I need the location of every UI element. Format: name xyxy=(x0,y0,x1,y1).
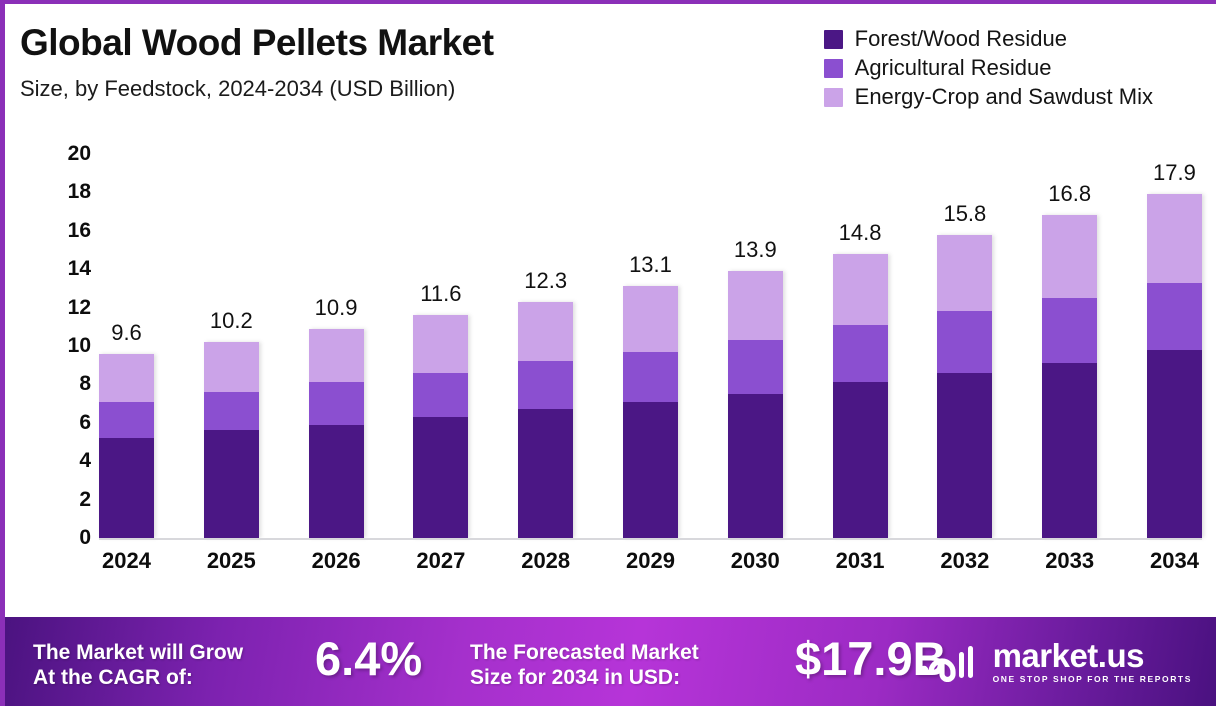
legend-label: Forest/Wood Residue xyxy=(855,28,1067,50)
stacked-bar[interactable] xyxy=(99,354,154,538)
bar-segment[interactable] xyxy=(518,361,573,409)
stacked-bar[interactable] xyxy=(1147,194,1202,538)
forecast-caption-line2: Size for 2034 in USD: xyxy=(470,666,699,691)
x-axis-tick-label: 2031 xyxy=(833,548,888,588)
legend-swatch-icon xyxy=(824,88,843,107)
y-axis-tick-label: 4 xyxy=(79,449,91,473)
bar-segment[interactable] xyxy=(1042,298,1097,363)
page-title: Global Wood Pellets Market xyxy=(20,22,494,64)
bar-column[interactable]: 14.8 xyxy=(833,154,888,538)
stacked-bar[interactable] xyxy=(833,254,888,538)
bar-segment[interactable] xyxy=(937,235,992,312)
logo-name: market.us xyxy=(993,639,1192,672)
bar-column[interactable]: 11.6 xyxy=(413,154,468,538)
header: Global Wood Pellets Market Size, by Feed… xyxy=(5,4,1216,154)
y-axis-tick-label: 20 xyxy=(68,142,91,166)
forecast-caption: The Forecasted Market Size for 2034 in U… xyxy=(470,641,699,691)
legend-item: Energy-Crop and Sawdust Mix xyxy=(824,86,1153,108)
stacked-bar[interactable] xyxy=(518,302,573,538)
bar-column[interactable]: 13.1 xyxy=(623,154,678,538)
bar-segment[interactable] xyxy=(833,254,888,325)
x-axis-tick-label: 2033 xyxy=(1042,548,1097,588)
bar-value-label: 11.6 xyxy=(420,281,461,307)
y-axis-tick-label: 2 xyxy=(79,488,91,512)
bar-segment[interactable] xyxy=(518,302,573,362)
logo-tagline: ONE STOP SHOP FOR THE REPORTS xyxy=(993,675,1192,684)
bar-column[interactable]: 12.3 xyxy=(518,154,573,538)
bar-value-label: 12.3 xyxy=(524,268,567,294)
x-axis-tick-label: 2030 xyxy=(728,548,783,588)
bar-segment[interactable] xyxy=(204,392,259,430)
cagr-caption: The Market will Grow At the CAGR of: xyxy=(33,641,243,691)
stacked-bar[interactable] xyxy=(937,235,992,538)
x-axis-tick-label: 2028 xyxy=(518,548,573,588)
bar-value-label: 15.8 xyxy=(943,201,986,227)
bar-segment[interactable] xyxy=(413,417,468,538)
cagr-caption-line2: At the CAGR of: xyxy=(33,666,243,691)
stacked-bar[interactable] xyxy=(204,342,259,538)
legend-swatch-icon xyxy=(824,30,843,49)
bar-segment[interactable] xyxy=(623,286,678,351)
y-axis-tick-label: 16 xyxy=(68,219,91,243)
bar-segment[interactable] xyxy=(413,315,468,373)
bar-value-label: 16.8 xyxy=(1048,181,1091,207)
bar-segment[interactable] xyxy=(99,402,154,438)
bar-value-label: 17.9 xyxy=(1153,160,1196,186)
bar-value-label: 9.6 xyxy=(111,320,142,346)
stacked-bar[interactable] xyxy=(413,315,468,538)
bar-value-label: 13.9 xyxy=(734,237,777,263)
bar-segment[interactable] xyxy=(309,329,364,383)
bar-value-label: 10.2 xyxy=(210,308,253,334)
bar-column[interactable]: 9.6 xyxy=(99,154,154,538)
y-axis-tick-label: 18 xyxy=(68,180,91,204)
legend-item: Agricultural Residue xyxy=(824,57,1052,79)
x-axis-tick-label: 2026 xyxy=(309,548,364,588)
x-axis-tick-label: 2025 xyxy=(204,548,259,588)
bar-segment[interactable] xyxy=(623,402,678,538)
forecast-caption-line1: The Forecasted Market xyxy=(470,641,699,666)
bar-column[interactable]: 16.8 xyxy=(1042,154,1097,538)
stacked-bar[interactable] xyxy=(1042,215,1097,538)
x-axis-tick-label: 2032 xyxy=(937,548,992,588)
x-axis-tick-label: 2027 xyxy=(413,548,468,588)
bar-value-label: 10.9 xyxy=(315,295,358,321)
bar-segment[interactable] xyxy=(937,311,992,372)
x-axis-line xyxy=(99,538,1202,540)
x-axis-tick-label: 2024 xyxy=(99,548,154,588)
cagr-value: 6.4% xyxy=(315,635,422,682)
y-axis-tick-label: 8 xyxy=(79,372,91,396)
bar-segment[interactable] xyxy=(728,340,783,394)
chart-area: 02468101214161820 9.610.210.911.612.313.… xyxy=(5,154,1216,609)
bar-segment[interactable] xyxy=(309,382,364,424)
bar-segment[interactable] xyxy=(99,354,154,402)
bar-segment[interactable] xyxy=(413,373,468,417)
bar-segment[interactable] xyxy=(1042,363,1097,538)
bar-column[interactable]: 13.9 xyxy=(728,154,783,538)
bar-segment[interactable] xyxy=(937,373,992,538)
y-axis-tick-label: 14 xyxy=(68,257,91,281)
y-axis-tick-label: 0 xyxy=(79,526,91,550)
bar-segment[interactable] xyxy=(728,271,783,340)
bar-segment[interactable] xyxy=(728,394,783,538)
cagr-caption-line1: The Market will Grow xyxy=(33,641,243,666)
stacked-bar[interactable] xyxy=(309,329,364,538)
x-axis-tick-label: 2029 xyxy=(623,548,678,588)
bar-segment[interactable] xyxy=(833,382,888,538)
bar-segment[interactable] xyxy=(1147,350,1202,538)
y-axis-tick-label: 10 xyxy=(68,334,91,358)
stacked-bar[interactable] xyxy=(623,286,678,538)
legend-label: Agricultural Residue xyxy=(855,57,1052,79)
bar-segment[interactable] xyxy=(1147,283,1202,350)
bar-segment[interactable] xyxy=(623,352,678,402)
y-axis-tick-label: 12 xyxy=(68,296,91,320)
x-axis-tick-label: 2034 xyxy=(1147,548,1202,588)
bar-segment[interactable] xyxy=(309,425,364,538)
bar-segment[interactable] xyxy=(1147,194,1202,282)
page-subtitle: Size, by Feedstock, 2024-2034 (USD Billi… xyxy=(20,76,455,102)
stacked-bar[interactable] xyxy=(728,271,783,538)
bar-column[interactable]: 10.2 xyxy=(204,154,259,538)
plot-area: 9.610.210.911.612.313.113.914.815.816.81… xyxy=(99,154,1202,540)
market-us-logo: market.us ONE STOP SHOP FOR THE REPORTS xyxy=(917,639,1192,684)
y-axis-tick-label: 6 xyxy=(79,411,91,435)
footer-banner: The Market will Grow At the CAGR of: 6.4… xyxy=(5,617,1216,706)
infographic-page: Global Wood Pellets Market Size, by Feed… xyxy=(0,0,1216,706)
bar-segment[interactable] xyxy=(204,342,259,392)
market-us-mark-icon xyxy=(917,640,983,682)
bar-column[interactable]: 10.9 xyxy=(309,154,364,538)
bar-segment[interactable] xyxy=(518,409,573,538)
y-axis-labels: 02468101214161820 xyxy=(45,154,91,540)
market-us-wordmark: market.us ONE STOP SHOP FOR THE REPORTS xyxy=(993,639,1192,684)
bar-segment[interactable] xyxy=(833,325,888,383)
x-axis-labels: 2024202520262027202820292030203120322033… xyxy=(99,548,1202,588)
legend-item: Forest/Wood Residue xyxy=(824,28,1067,50)
bar-segment[interactable] xyxy=(99,438,154,538)
bar-value-label: 13.1 xyxy=(629,252,672,278)
bar-segment[interactable] xyxy=(204,430,259,538)
legend-label: Energy-Crop and Sawdust Mix xyxy=(855,86,1153,108)
bar-column[interactable]: 15.8 xyxy=(937,154,992,538)
bar-group: 9.610.210.911.612.313.113.914.815.816.81… xyxy=(99,154,1202,538)
chart-legend: Forest/Wood ResidueAgricultural ResidueE… xyxy=(824,28,1153,108)
bar-column[interactable]: 17.9 xyxy=(1147,154,1202,538)
legend-swatch-icon xyxy=(824,59,843,78)
bar-segment[interactable] xyxy=(1042,215,1097,298)
bar-value-label: 14.8 xyxy=(839,220,882,246)
